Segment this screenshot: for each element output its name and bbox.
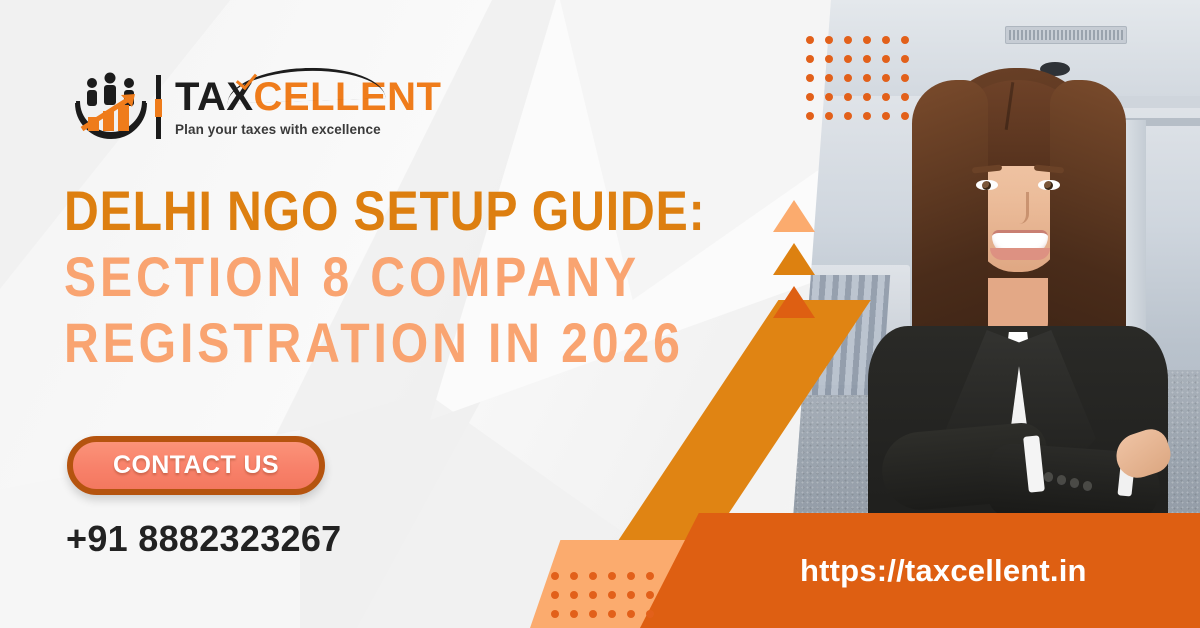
eye [1038,180,1060,190]
people-growth-chart-icon [72,71,150,143]
brand-logo[interactable]: TAXCELLENT Plan your taxes with excellen… [72,68,441,146]
website-url[interactable]: https://taxcellent.in [800,553,1087,589]
woman-figure [868,40,1168,560]
headline-line-1: DELHI NGO SETUP GUIDE: [64,178,683,244]
headline-line-3: REGISTRATION IN 2026 [64,310,683,376]
logo-divider [156,75,161,139]
phone-number[interactable]: +91 8882323267 [66,518,341,560]
lower-lip [990,248,1050,260]
eye [976,180,998,190]
dot-grid-bottom [551,572,654,618]
contact-us-label: CONTACT US [113,451,279,480]
dot-grid-top [806,36,909,120]
headline-line-2: SECTION 8 COMPANY [64,244,683,310]
headline: DELHI NGO SETUP GUIDE: SECTION 8 COMPANY… [64,178,784,376]
nose [1012,192,1029,224]
promo-banner: https://taxcellent.in [0,0,1200,628]
sleeve-buttons [1044,470,1100,494]
logo-wordmark: TAXCELLENT Plan your taxes with excellen… [175,77,441,137]
contact-us-button[interactable]: CONTACT US [67,436,325,495]
logo-tagline: Plan your taxes with excellence [175,122,441,137]
